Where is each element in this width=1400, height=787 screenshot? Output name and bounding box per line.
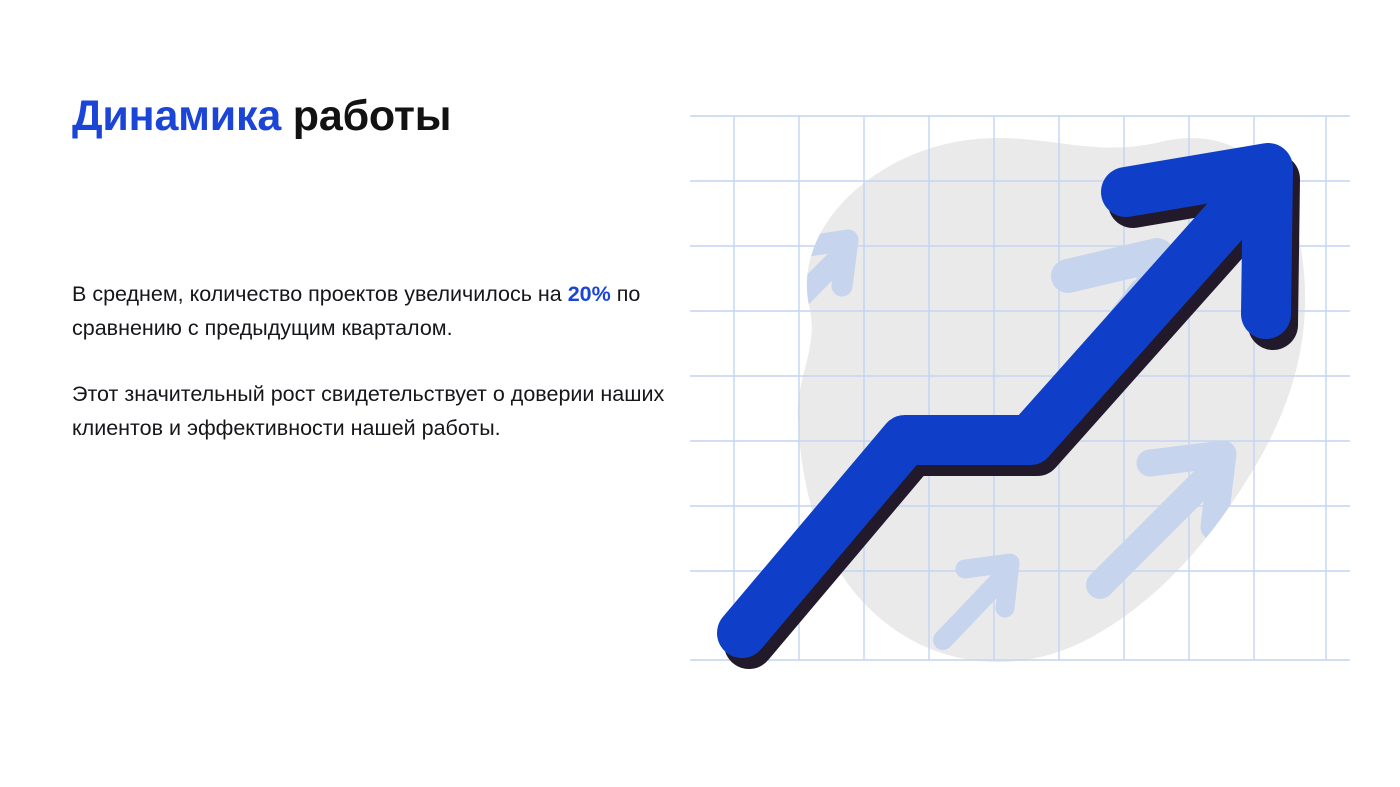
page-title: Динамика работы <box>72 92 692 140</box>
body-copy: В среднем, количество проектов увеличило… <box>72 278 712 445</box>
paragraph-one-highlight: 20% <box>568 282 611 306</box>
paragraph-two: Этот значительный рост свидетельствует о… <box>72 378 712 445</box>
slide-root: Динамика работы В среднем, количество пр… <box>0 0 1400 787</box>
page-title-rest: работы <box>281 92 451 140</box>
illustration-svg <box>690 80 1350 680</box>
text-column: Динамика работы <box>72 92 692 140</box>
page-title-accent: Динамика <box>72 92 281 140</box>
paragraph-one: В среднем, количество проектов увеличило… <box>72 278 712 345</box>
paragraph-one-part-one: В среднем, количество проектов увеличило… <box>72 282 568 306</box>
growth-arrow-illustration <box>690 80 1350 680</box>
